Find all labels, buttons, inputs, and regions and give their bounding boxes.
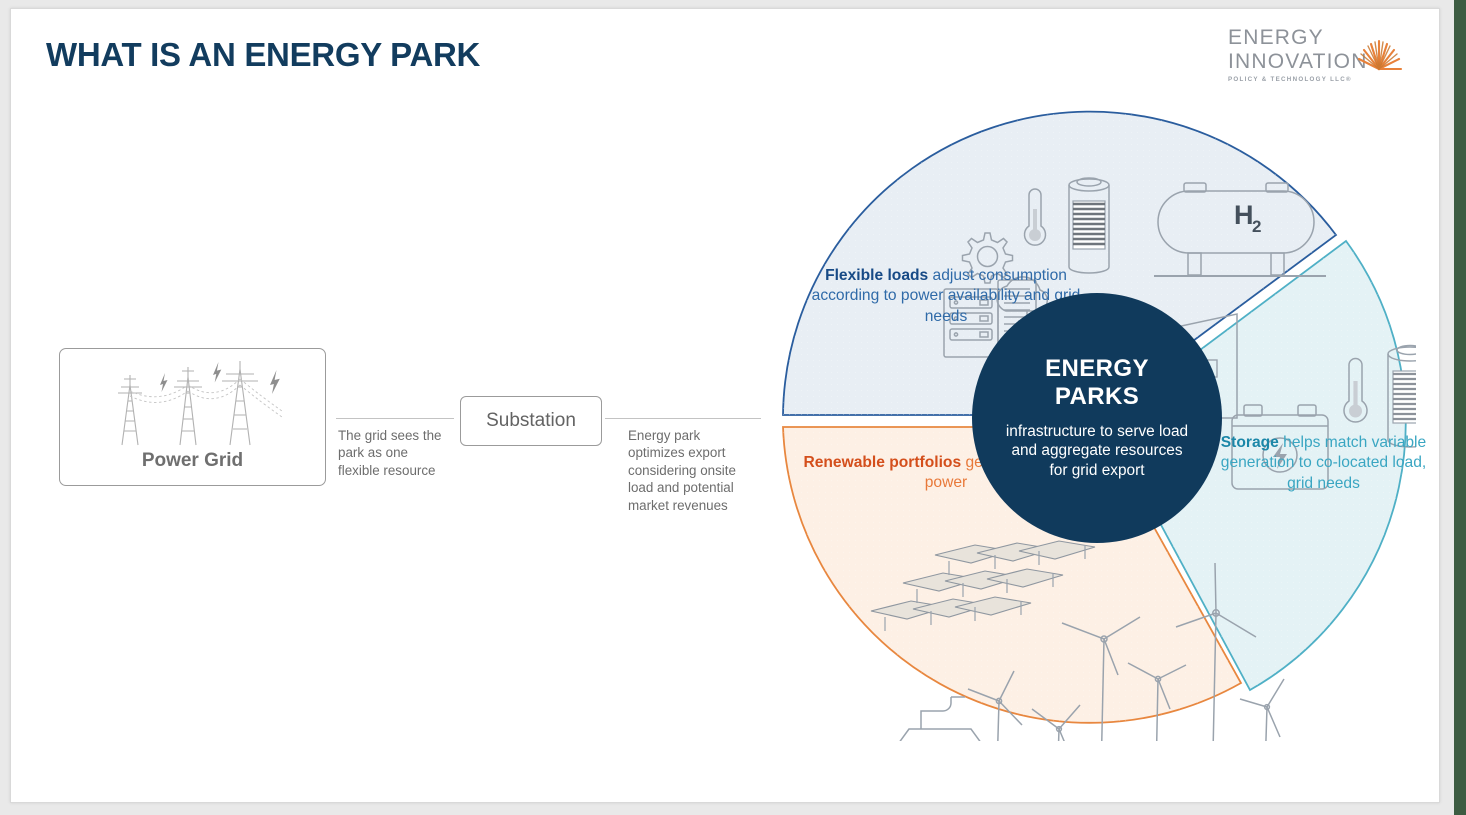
substation-label: Substation [486,410,576,432]
transmission-towers-icon [100,359,290,451]
core-title: ENERGY PARKS [1045,355,1149,411]
caption-grid-to-substation: The grid sees the park as one flexible r… [338,427,446,479]
hydrogen-subscript: 2 [1252,217,1261,236]
power-grid-label: Power Grid [60,450,325,472]
segment-label-storage-bold: Storage [1221,434,1279,451]
brand-logo: ENERGY INNOVATION POLICY & TECHNOLOGY LL… [1228,27,1403,89]
segment-label-renewable-bold: Renewable portfolios [803,454,961,471]
slide-backdrop: WHAT IS AN ENERGY PARK ENERGY INNOVATION… [0,0,1454,815]
geothermal-plant-icon [893,697,987,741]
hydrogen-label: H [1234,200,1254,230]
wheel-core[interactable]: ENERGY PARKS infrastructure to serve loa… [972,293,1222,543]
logo-wordmark: ENERGY INNOVATION POLICY & TECHNOLOGY LL… [1228,27,1368,83]
caption-substation-to-park: Energy park optimizes export considering… [628,427,753,514]
sunburst-icon [1353,29,1405,77]
page-title: WHAT IS AN ENERGY PARK [46,36,480,74]
substation-box[interactable]: Substation [460,396,602,446]
core-title-line-2: PARKS [1045,383,1149,411]
core-title-line-1: ENERGY [1045,355,1149,383]
connector-line-left [336,418,454,419]
connector-line-right [605,418,761,419]
segment-label-flexible-loads-bold: Flexible loads [825,267,928,284]
logo-line-2: INNOVATION [1228,51,1368,72]
segment-label-storage: Storage helps match variable generation … [1216,433,1431,494]
power-grid-box[interactable]: Power Grid [59,348,326,486]
slide-canvas: WHAT IS AN ENERGY PARK ENERGY INNOVATION… [10,8,1440,803]
logo-line-1: ENERGY [1228,27,1368,48]
logo-tagline: POLICY & TECHNOLOGY LLC® [1228,76,1368,83]
energy-park-wheel: H 2 [776,101,1416,741]
core-subtitle: infrastructure to serve load and aggrega… [1002,422,1192,481]
